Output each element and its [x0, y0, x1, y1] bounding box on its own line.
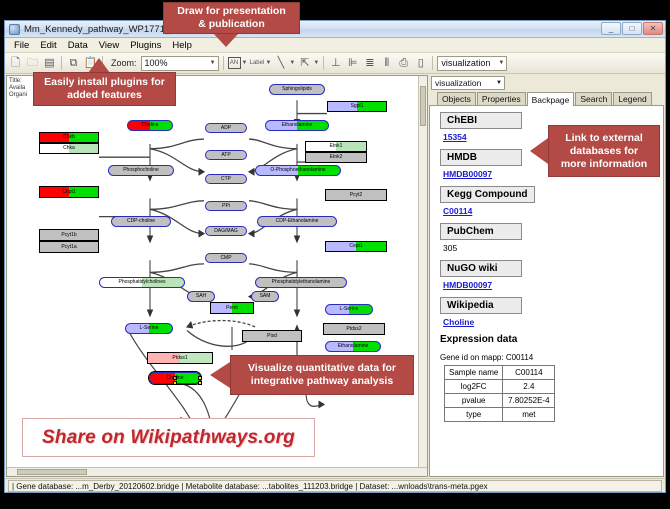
backpage-entry: Wikipedia Choline: [440, 297, 655, 327]
node-label: O-Phosphoethanolamine: [270, 168, 325, 173]
new-file-icon[interactable]: 🗋: [8, 56, 23, 71]
scroll-thumb[interactable]: [420, 86, 426, 126]
gene-id-on-mapp: Gene id on mapp: C00114: [440, 353, 655, 362]
metabolite-node-dagmag[interactable]: DAG/MAG: [205, 226, 247, 236]
visualization-combo-label: visualization: [435, 78, 481, 88]
cell-value: 7.80252E-4: [503, 394, 555, 408]
node-label: Chpt1: [62, 190, 75, 195]
align-top-icon[interactable]: ⊥: [328, 56, 343, 71]
tab-search[interactable]: Search: [575, 92, 612, 105]
callout-draw-line1: Draw for presentation: [177, 5, 286, 17]
canvas-horizontal-scrollbar[interactable]: [7, 467, 427, 476]
metabolite-node-atp[interactable]: ATP: [205, 150, 247, 160]
metabolite-node-cdp-ethanolamine[interactable]: CDP-Ethanolamine: [257, 216, 337, 227]
tab-legend[interactable]: Legend: [613, 92, 651, 105]
chevron-down-icon: ▼: [265, 60, 271, 66]
visualization-row: visualization ▼: [429, 75, 664, 92]
status-bar: | Gene database: ...m_Derby_20120602.bri…: [5, 478, 665, 492]
callout-draw-line2: & publication: [198, 18, 265, 30]
node-label: Pcyt1a: [61, 245, 76, 250]
gene-node-pisd[interactable]: Pisd: [242, 330, 302, 342]
menu-bar: File Edit Data View Plugins Help: [5, 38, 665, 53]
selection-handle[interactable]: [173, 381, 177, 385]
hmdb-header: HMDB: [440, 149, 522, 166]
wikipedia-link[interactable]: Choline: [443, 317, 655, 327]
metabolite-node-l-serine-right[interactable]: L-Serine: [325, 304, 373, 315]
callout-draw-for-presentation: Draw for presentation & publication: [163, 2, 300, 34]
metabolite-node-cdp-choline[interactable]: CDP-choline: [111, 216, 171, 227]
gene-node-sgpl1[interactable]: Sgpl1: [327, 101, 387, 112]
distribute-vertical-icon[interactable]: ≣: [362, 56, 377, 71]
gene-node-pcyt1a[interactable]: Pcyt1a: [39, 241, 99, 253]
copy-icon[interactable]: ⧉: [66, 56, 81, 71]
menu-data[interactable]: Data: [63, 39, 93, 52]
selection-handle[interactable]: [198, 381, 202, 385]
chevron-down-icon: ▼: [498, 60, 504, 66]
maximize-button[interactable]: □: [622, 22, 642, 35]
zoom-label: Zoom:: [111, 58, 137, 68]
menu-file[interactable]: File: [9, 39, 34, 52]
tab-objects[interactable]: Objects: [437, 92, 476, 105]
node-label: Ptdss2: [346, 327, 361, 332]
node-label: Phosphatidylcholines: [119, 280, 166, 285]
node-label: Pemt: [226, 306, 238, 311]
metabolite-node-choline-selected[interactable]: Choline: [149, 372, 201, 384]
interaction-icon: ⇱: [297, 56, 312, 71]
table-row: Sample name C00114: [445, 366, 555, 380]
cell-value: met: [503, 408, 555, 422]
gene-node-cept1[interactable]: Cept1: [325, 241, 387, 252]
tab-backpage[interactable]: Backpage: [527, 92, 575, 106]
metabolite-node-sah[interactable]: SAH: [187, 291, 215, 302]
pathway-availability-label: Availa: [9, 85, 27, 92]
chebi-header: ChEBI: [440, 112, 522, 129]
node-label: Sphingolipids: [282, 87, 312, 92]
node-label: CTP: [221, 177, 231, 182]
stack-icon[interactable]: ⎙: [396, 56, 411, 71]
node-label: Phosphatidylethanolamine: [272, 280, 331, 285]
node-label: SAM: [260, 294, 271, 299]
visualization-combo-toolbar[interactable]: visualization ▼: [437, 56, 507, 71]
metabolite-node-sam[interactable]: SAM: [251, 291, 279, 302]
menu-edit[interactable]: Edit: [35, 39, 61, 52]
callout-easily-install-plugins: Easily install plugins for added feature…: [33, 72, 176, 106]
visualization-combo[interactable]: visualization ▼: [431, 76, 505, 90]
metabolite-node-l-serine-left[interactable]: L-Serine: [125, 323, 173, 334]
gene-node-chkb[interactable]: Chkb: [39, 132, 99, 143]
chevron-down-icon: ▼: [289, 60, 295, 66]
chevron-down-icon: ▼: [496, 80, 502, 86]
distribute-horizontal-icon[interactable]: ⦀: [379, 56, 394, 71]
node-label: ATP: [221, 153, 230, 158]
table-row: type met: [445, 408, 555, 422]
gene-node-pemt[interactable]: Pemt: [210, 302, 254, 314]
order-icon[interactable]: ▯: [413, 56, 428, 71]
node-label: Pcyt2: [350, 193, 363, 198]
gene-node-etnk1[interactable]: Etnk1: [305, 141, 367, 152]
node-label: Chka: [63, 146, 75, 151]
callout-link-line3: more information: [561, 158, 647, 170]
node-label: Cept1: [349, 244, 362, 249]
cell-key: pvalue: [445, 394, 503, 408]
callout-viz-line2: integrative pathway analysis: [251, 375, 393, 387]
node-label: Phosphocholine: [123, 168, 159, 173]
toolbar-separator-1: [61, 56, 62, 70]
pubchem-value: 305: [443, 243, 655, 253]
chevron-down-icon: ▼: [242, 60, 248, 66]
node-label: CDP-choline: [127, 219, 155, 224]
node-label: Choline: [167, 376, 184, 381]
chevron-down-icon: ▼: [210, 60, 216, 66]
gene-node-ptdss1[interactable]: Ptdss1: [147, 352, 213, 364]
minimize-button[interactable]: _: [601, 22, 621, 35]
callout-link-line2: databases for: [570, 145, 638, 157]
toolbar-separator-3: [223, 56, 224, 70]
node-label: DAG/MAG: [214, 229, 238, 234]
node-label: L-Serine: [140, 326, 159, 331]
callout-share-on-wikipathways: Share on Wikipathways.org: [22, 418, 315, 457]
node-label: Pisd: [267, 334, 277, 339]
cell-value: C00114: [503, 366, 555, 380]
pathway-canvas[interactable]: Title: Availa Organi: [6, 75, 428, 477]
canvas-vertical-scrollbar[interactable]: [418, 76, 427, 476]
metabolite-node-cmp[interactable]: CMP: [205, 253, 247, 263]
callout-visualize-quantitative-data: Visualize quantitative data for integrat…: [230, 355, 414, 395]
zoom-combo[interactable]: 100% ▼: [141, 56, 219, 71]
callout-plugins-line1: Easily install plugins for: [44, 76, 165, 88]
metabolite-node-ctp[interactable]: CTP: [205, 174, 247, 184]
node-label: CDP-Ethanolamine: [276, 219, 319, 224]
interaction-tool[interactable]: ⇱ ▼: [297, 56, 319, 71]
gene-node-pcyt1b[interactable]: Pcyt1b: [39, 229, 99, 241]
node-label: Ethanolamine: [282, 123, 313, 128]
node-label: Etnk2: [330, 155, 343, 160]
callout-link-arrow-icon: [530, 138, 548, 164]
kegg-compound-header: Kegg Compound: [440, 186, 535, 203]
cell-key: type: [445, 408, 503, 422]
node-label: L-Serine: [340, 307, 359, 312]
wikipedia-header: Wikipedia: [440, 297, 522, 314]
tab-properties[interactable]: Properties: [477, 92, 526, 105]
menu-view[interactable]: View: [94, 39, 124, 52]
selection-handle[interactable]: [198, 376, 202, 380]
metabolite-node-ethanolamine[interactable]: Ethanolamine: [265, 120, 329, 131]
node-label: Pcyt1b: [61, 233, 76, 238]
menu-plugins[interactable]: Plugins: [125, 39, 166, 52]
node-label: Ptdss1: [172, 356, 187, 361]
scroll-thumb[interactable]: [17, 469, 87, 475]
datanode-icon: AN: [228, 57, 241, 69]
side-tab-strip: Objects Properties Backpage Search Legen…: [429, 92, 664, 106]
gene-node-ptdss2[interactable]: Ptdss2: [323, 323, 385, 335]
callout-plugins-arrow-icon: [88, 58, 110, 73]
open-folder-icon[interactable]: 🗀: [25, 56, 40, 71]
status-bar-text: | Gene database: ...m_Derby_20120602.bri…: [8, 480, 662, 492]
line-icon: ╲: [273, 56, 288, 71]
node-label: ADP: [221, 126, 231, 131]
callout-plugins-line2: added features: [67, 89, 142, 101]
node-label: Sgpl1: [351, 104, 364, 109]
label-icon: Label: [249, 56, 264, 71]
line-tool[interactable]: ╲ ▼: [273, 56, 295, 71]
node-label: Ethanolamine: [338, 344, 369, 349]
callout-link-line1: Link to external: [565, 132, 643, 144]
cell-value: 2.4: [503, 380, 555, 394]
gene-node-chpt1[interactable]: Chpt1: [39, 186, 99, 198]
callout-viz-arrow-icon: [210, 362, 230, 388]
backpage-entry: NuGO wiki HMDB00097: [440, 260, 655, 290]
nugo-wiki-link[interactable]: HMDB00097: [443, 280, 655, 290]
callout-link-to-external-databases: Link to external databases for more info…: [548, 125, 660, 177]
backpage-entry: PubChem 305: [440, 223, 655, 253]
zoom-value: 100%: [145, 58, 168, 68]
cell-key: log2FC: [445, 380, 503, 394]
expression-data-table: Sample name C00114 log2FC 2.4 pvalue 7.8…: [444, 365, 555, 422]
metabolite-node-sphingolipids[interactable]: Sphingolipids: [269, 84, 325, 95]
save-icon[interactable]: ▤: [42, 56, 57, 71]
pathway-title-label: Title:: [9, 78, 27, 85]
visualization-combo-value: visualization: [441, 58, 490, 68]
toolbar-separator-4: [323, 56, 324, 70]
metabolite-node-phosphocholine[interactable]: Phosphocholine: [108, 165, 174, 176]
label-tool[interactable]: Label ▼: [249, 56, 271, 71]
menu-help[interactable]: Help: [167, 39, 197, 52]
metabolite-node-adp[interactable]: ADP: [205, 123, 247, 133]
callout-share-text: Share on Wikipathways.org: [42, 431, 295, 444]
metabolite-node-ethanolamine-right[interactable]: Ethanolamine: [325, 341, 381, 352]
node-label: PPi: [222, 204, 230, 209]
align-left-icon[interactable]: ⊫: [345, 56, 360, 71]
metabolite-node-ppi[interactable]: PPi: [205, 201, 247, 211]
nugo-wiki-header: NuGO wiki: [440, 260, 522, 277]
node-label: Chkb: [63, 135, 75, 140]
metabolite-node-phosphatidylethanolamine[interactable]: Phosphatidylethanolamine: [255, 277, 347, 288]
table-row: log2FC 2.4: [445, 380, 555, 394]
node-label: Etnk1: [330, 144, 343, 149]
table-row: pvalue 7.80252E-4: [445, 394, 555, 408]
chevron-down-icon: ▼: [313, 60, 319, 66]
close-button[interactable]: ✕: [643, 22, 663, 35]
toolbar-separator-5: [432, 56, 433, 70]
datanode-tool[interactable]: AN ▼: [228, 57, 248, 69]
callout-viz-line1: Visualize quantitative data for: [248, 362, 396, 374]
metabolite-node-phosphatidylcholines[interactable]: Phosphatidylcholines: [99, 277, 185, 288]
expression-data-title: Expression data: [440, 334, 655, 345]
kegg-compound-link[interactable]: C00114: [443, 206, 655, 216]
title-bar: Mm_Kennedy_pathway_WP1771_45176.gpml _ □…: [5, 21, 665, 38]
node-label: Choline: [142, 123, 159, 128]
metabolite-node-choline-top[interactable]: Choline: [127, 120, 173, 131]
pubchem-header: PubChem: [440, 223, 522, 240]
pathway-info-text: Title: Availa Organi: [9, 78, 27, 99]
pathway-organism-label: Organi: [9, 92, 27, 99]
app-icon: [9, 24, 20, 35]
gene-node-etnk2[interactable]: Etnk2: [305, 152, 367, 163]
gene-node-pcyt2[interactable]: Pcyt2: [325, 189, 387, 201]
node-label: CMP: [220, 256, 231, 261]
gene-node-chka[interactable]: Chka: [39, 143, 99, 154]
callout-draw-arrow-icon: [213, 33, 239, 47]
backpage-entry: Kegg Compound C00114: [440, 186, 655, 216]
cell-key: Sample name: [445, 366, 503, 380]
node-label: SAH: [196, 294, 206, 299]
window-buttons: _ □ ✕: [601, 22, 663, 35]
metabolite-node-o-phosphoethanolamine[interactable]: O-Phosphoethanolamine: [255, 165, 341, 176]
